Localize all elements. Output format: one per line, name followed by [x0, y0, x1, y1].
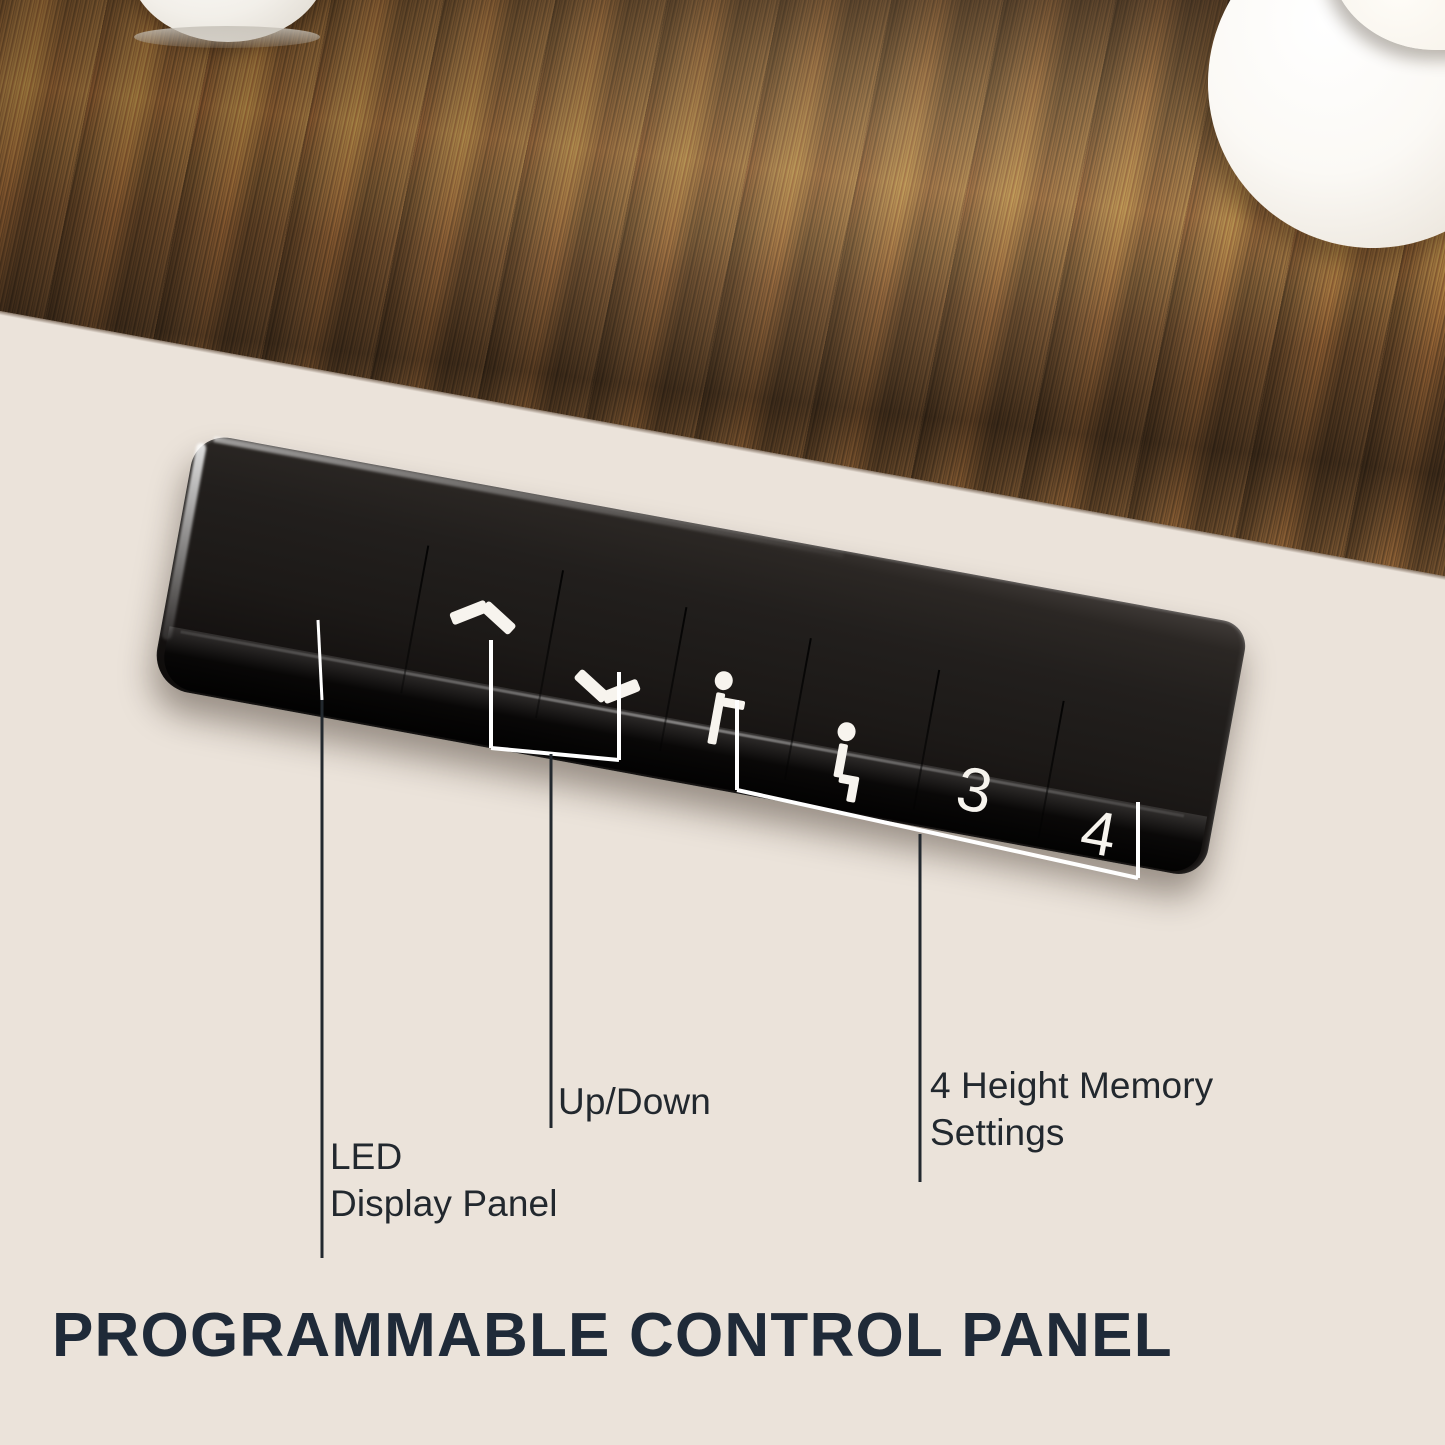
callout-led-display-panel: LED Display Panel	[330, 1133, 558, 1228]
memory-4-label: 4	[1076, 801, 1121, 868]
sitting-person-icon	[817, 719, 871, 805]
callout-height-memory-settings: 4 Height Memory Settings	[930, 1062, 1213, 1157]
memory-3-label: 3	[952, 758, 997, 825]
page-title: PROGRAMMABLE CONTROL PANEL	[52, 1300, 1173, 1371]
chevron-down-icon	[573, 667, 640, 712]
product-feature-image: 3 4 LED Display Panel Up/Down 4 Height M…	[0, 0, 1445, 1445]
callout-up-down: Up/Down	[558, 1078, 711, 1125]
standing-person-icon	[695, 668, 748, 750]
chevron-up-icon	[446, 613, 513, 658]
